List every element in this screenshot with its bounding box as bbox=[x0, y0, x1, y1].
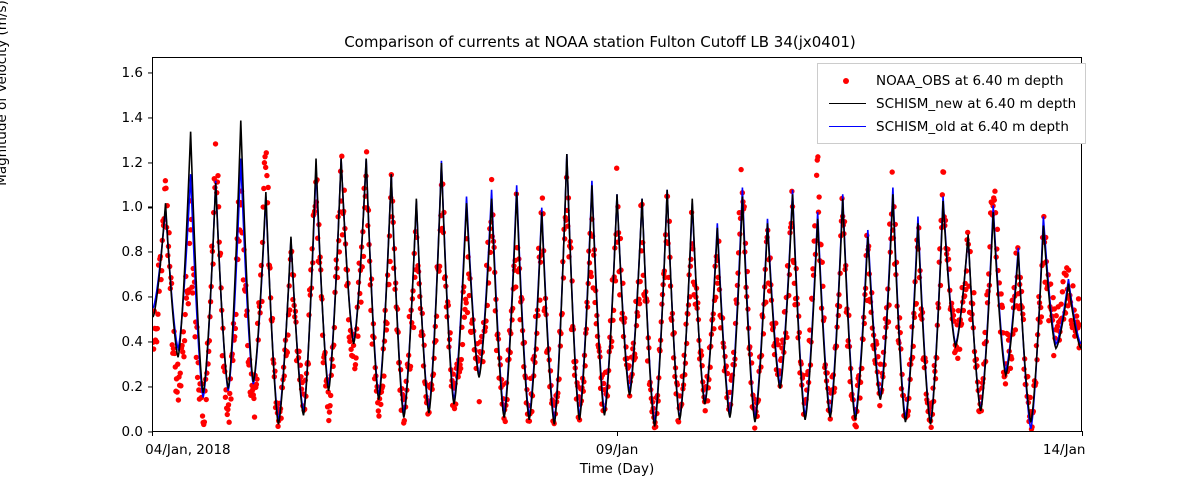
obs-data-point bbox=[1058, 301, 1063, 306]
obs-data-point bbox=[163, 178, 168, 183]
legend-box: NOAA_OBS at 6.40 m depthSCHISM_new at 6.… bbox=[817, 63, 1086, 144]
y-tick-label: 0.6 bbox=[0, 289, 143, 305]
obs-data-point bbox=[458, 366, 463, 371]
x-tick-label: 04/Jan, 2018 bbox=[145, 442, 230, 458]
obs-data-point bbox=[889, 169, 894, 174]
obs-data-point bbox=[227, 391, 232, 396]
x-tick-label: 09/Jan bbox=[596, 442, 639, 458]
obs-data-point bbox=[184, 295, 189, 300]
obs-data-point bbox=[513, 284, 518, 289]
obs-data-point bbox=[364, 149, 369, 154]
obs-data-point bbox=[155, 312, 160, 317]
obs-data-point bbox=[194, 355, 199, 360]
obs-data-point bbox=[667, 219, 672, 224]
obs-data-point bbox=[339, 154, 344, 159]
obs-data-point bbox=[189, 284, 194, 289]
obs-data-point bbox=[155, 326, 160, 331]
legend-label: SCHISM_new at 6.40 m depth bbox=[869, 96, 1076, 112]
obs-data-point bbox=[190, 290, 195, 295]
obs-data-point bbox=[378, 402, 383, 407]
legend-label: NOAA_OBS at 6.40 m depth bbox=[869, 73, 1064, 89]
obs-data-point bbox=[477, 399, 482, 404]
obs-data-point bbox=[215, 173, 220, 178]
y-tick-label: 1.4 bbox=[0, 110, 143, 126]
obs-data-point bbox=[489, 177, 494, 182]
obs-data-point bbox=[1013, 327, 1018, 332]
obs-data-point bbox=[462, 315, 467, 320]
obs-data-point bbox=[854, 424, 859, 429]
obs-data-point bbox=[402, 418, 407, 423]
obs-data-point bbox=[353, 362, 358, 367]
obs-data-point bbox=[326, 418, 331, 423]
obs-data-point bbox=[226, 402, 231, 407]
obs-data-point bbox=[195, 375, 200, 380]
obs-data-point bbox=[264, 150, 269, 155]
obs-data-point bbox=[465, 310, 470, 315]
y-tick-label: 1.0 bbox=[0, 199, 143, 215]
obs-data-point bbox=[965, 230, 970, 235]
obs-data-point bbox=[928, 425, 933, 430]
obs-data-point bbox=[376, 413, 381, 418]
obs-data-point bbox=[1063, 272, 1068, 277]
obs-data-point bbox=[941, 169, 946, 174]
obs-data-point bbox=[154, 339, 159, 344]
obs-data-point bbox=[955, 356, 960, 361]
obs-data-point bbox=[816, 194, 821, 199]
obs-data-point bbox=[1034, 343, 1039, 348]
obs-data-point bbox=[204, 397, 209, 402]
obs-data-point bbox=[175, 361, 180, 366]
obs-data-point bbox=[1050, 295, 1055, 300]
obs-data-point bbox=[228, 396, 233, 401]
obs-data-point bbox=[176, 397, 181, 402]
legend-line-icon bbox=[825, 96, 869, 112]
obs-data-point bbox=[192, 334, 197, 339]
legend-item[interactable]: SCHISM_new at 6.40 m depth bbox=[825, 92, 1076, 115]
obs-data-point bbox=[672, 330, 677, 335]
obs-data-point bbox=[957, 347, 962, 352]
obs-data-point bbox=[358, 299, 363, 304]
obs-data-point bbox=[459, 357, 464, 362]
x-tick-mark bbox=[1082, 431, 1083, 436]
obs-data-point bbox=[225, 407, 230, 412]
obs-data-point bbox=[210, 261, 215, 266]
obs-data-point bbox=[877, 403, 882, 408]
obs-data-point bbox=[163, 186, 168, 191]
legend-line-icon bbox=[825, 119, 869, 135]
obs-data-point bbox=[738, 167, 743, 172]
obs-data-point bbox=[992, 197, 997, 202]
obs-data-point bbox=[814, 173, 819, 178]
obs-data-point bbox=[1066, 267, 1071, 272]
obs-data-point bbox=[327, 403, 332, 408]
obs-data-point bbox=[1003, 381, 1008, 386]
obs-data-point bbox=[327, 409, 332, 414]
x-axis-label: Time (Day) bbox=[152, 461, 1082, 477]
obs-data-point bbox=[365, 223, 370, 228]
obs-data-point bbox=[252, 414, 257, 419]
obs-data-point bbox=[213, 141, 218, 146]
obs-data-point bbox=[416, 269, 421, 274]
obs-data-point bbox=[752, 425, 757, 430]
legend-label: SCHISM_old at 6.40 m depth bbox=[869, 119, 1069, 135]
obs-data-point bbox=[815, 154, 820, 159]
obs-data-point bbox=[540, 195, 545, 200]
obs-data-point bbox=[200, 413, 205, 418]
obs-data-point bbox=[251, 396, 256, 401]
obs-data-point bbox=[328, 393, 333, 398]
obs-data-point bbox=[460, 342, 465, 347]
obs-data-point bbox=[153, 346, 156, 351]
obs-data-point bbox=[264, 173, 269, 178]
figure-canvas: Comparison of currents at NOAA station F… bbox=[0, 0, 1200, 500]
obs-data-point bbox=[1051, 353, 1056, 358]
x-tick-label: 14/Jan bbox=[1043, 442, 1086, 458]
obs-data-point bbox=[703, 408, 708, 413]
obs-data-point bbox=[178, 383, 183, 388]
obs-data-point bbox=[376, 408, 381, 413]
obs-data-point bbox=[684, 341, 689, 346]
obs-data-point bbox=[1000, 305, 1005, 310]
obs-data-point bbox=[180, 349, 185, 354]
obs-data-point bbox=[178, 370, 183, 375]
legend-marker-icon bbox=[825, 73, 869, 89]
obs-data-point bbox=[186, 301, 191, 306]
obs-data-point bbox=[1060, 289, 1065, 294]
series-noaa-obs-scatter bbox=[153, 141, 1081, 431]
obs-data-point bbox=[995, 227, 1000, 232]
legend-dot-icon bbox=[843, 78, 849, 84]
obs-data-point bbox=[171, 346, 176, 351]
obs-data-point bbox=[353, 355, 358, 360]
obs-data-point bbox=[589, 274, 594, 279]
obs-data-point bbox=[614, 166, 619, 171]
obs-data-point bbox=[1054, 313, 1059, 318]
obs-data-point bbox=[1076, 296, 1081, 301]
obs-data-point bbox=[1060, 279, 1065, 284]
legend-item[interactable]: NOAA_OBS at 6.40 m depth bbox=[825, 69, 1076, 92]
legend-line-swatch bbox=[829, 103, 866, 105]
obs-data-point bbox=[464, 300, 469, 305]
obs-data-point bbox=[262, 160, 267, 165]
obs-data-point bbox=[265, 185, 270, 190]
obs-data-point bbox=[174, 389, 179, 394]
obs-data-point bbox=[1070, 283, 1075, 288]
obs-data-point bbox=[182, 312, 187, 317]
obs-data-point bbox=[347, 339, 352, 344]
obs-data-point bbox=[254, 382, 259, 387]
obs-data-point bbox=[202, 419, 207, 424]
y-tick-label: 0.0 bbox=[0, 424, 143, 440]
obs-data-point bbox=[411, 325, 416, 330]
legend-line-swatch bbox=[829, 126, 866, 128]
obs-data-point bbox=[225, 412, 230, 417]
y-tick-label: 0.4 bbox=[0, 334, 143, 350]
obs-data-point bbox=[263, 165, 268, 170]
obs-data-point bbox=[275, 424, 280, 429]
obs-data-point bbox=[182, 338, 187, 343]
obs-data-point bbox=[226, 420, 231, 425]
obs-data-point bbox=[181, 354, 186, 359]
chart-title: Comparison of currents at NOAA station F… bbox=[0, 33, 1200, 51]
y-tick-label: 0.8 bbox=[0, 244, 143, 260]
y-tick-label: 1.2 bbox=[0, 155, 143, 171]
legend-item[interactable]: SCHISM_old at 6.40 m depth bbox=[825, 115, 1076, 138]
obs-data-point bbox=[992, 189, 997, 194]
y-tick-label: 0.2 bbox=[0, 379, 143, 395]
obs-data-point bbox=[223, 395, 228, 400]
obs-data-point bbox=[503, 419, 508, 424]
y-tick-label: 1.6 bbox=[0, 65, 143, 81]
